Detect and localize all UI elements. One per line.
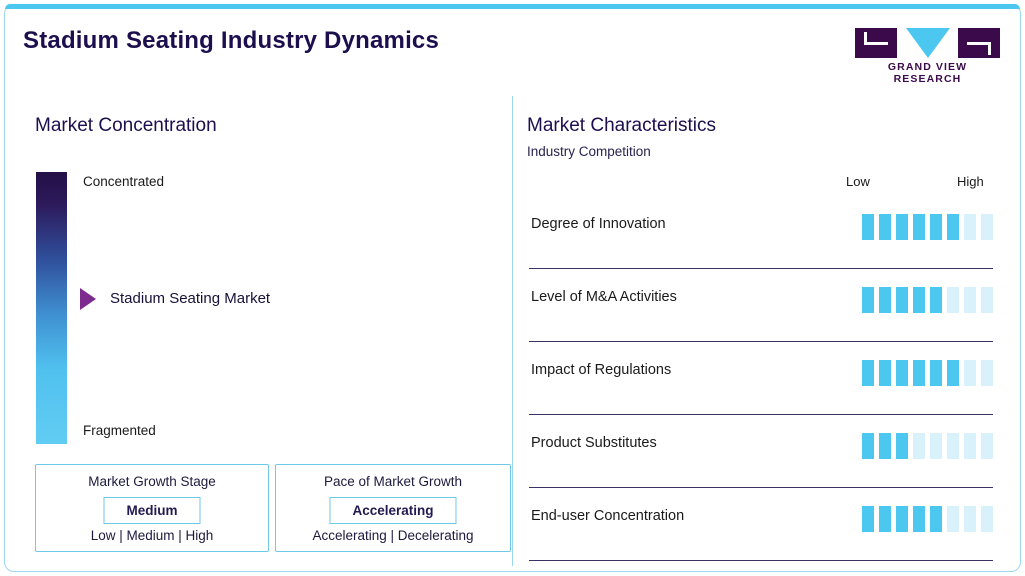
market-characteristics-subtitle: Industry Competition xyxy=(527,144,651,159)
rating-segment-filled xyxy=(879,433,891,459)
axis-label-low: Low xyxy=(846,174,870,189)
scale-label-fragmented: Fragmented xyxy=(83,423,156,438)
rating-segment-filled xyxy=(930,287,942,313)
rating-segment-empty xyxy=(947,287,959,313)
panel-divider xyxy=(512,96,513,566)
characteristic-rating-bars xyxy=(862,433,993,459)
characteristic-label: Impact of Regulations xyxy=(531,362,671,378)
slide-canvas: Stadium Seating Industry Dynamics GRAND … xyxy=(0,0,1025,576)
rating-segment-empty xyxy=(947,506,959,532)
rating-segment-filled xyxy=(896,214,908,240)
rating-segment-filled xyxy=(879,506,891,532)
pace-of-market-growth-title: Pace of Market Growth xyxy=(276,474,510,489)
characteristics-rows: Degree of InnovationLevel of M&A Activit… xyxy=(529,196,993,561)
scale-label-concentrated: Concentrated xyxy=(83,174,164,189)
rating-segment-empty xyxy=(981,506,993,532)
logo-bar-1 xyxy=(864,42,888,45)
axis-label-high: High xyxy=(957,174,984,189)
market-growth-stage-value: Medium xyxy=(103,497,200,524)
rating-segment-filled xyxy=(879,214,891,240)
rating-segment-filled xyxy=(913,214,925,240)
rating-segment-empty xyxy=(964,360,976,386)
rating-segment-filled xyxy=(896,506,908,532)
pace-of-market-growth-value: Accelerating xyxy=(329,497,456,524)
logo-square-right xyxy=(958,28,1000,58)
logo-triangle-icon xyxy=(906,28,950,58)
characteristic-rating-bars xyxy=(862,360,993,386)
characteristic-rating-bars xyxy=(862,506,993,532)
rating-segment-filled xyxy=(896,360,908,386)
characteristic-label: Degree of Innovation xyxy=(531,216,666,232)
characteristic-row: Impact of Regulations xyxy=(529,342,993,415)
rating-segment-filled xyxy=(862,360,874,386)
rating-segment-empty xyxy=(981,214,993,240)
pace-of-market-growth-scale: Accelerating | Decelerating xyxy=(276,528,510,543)
rating-segment-filled xyxy=(896,433,908,459)
logo-square-left xyxy=(855,28,897,58)
rating-segment-filled xyxy=(862,433,874,459)
page-title: Stadium Seating Industry Dynamics xyxy=(23,27,439,55)
rating-segment-empty xyxy=(964,287,976,313)
market-growth-stage-title: Market Growth Stage xyxy=(36,474,268,489)
logo-bar-2 xyxy=(864,32,867,45)
logo-bar-4 xyxy=(988,42,991,55)
rating-segment-filled xyxy=(930,506,942,532)
rating-segment-empty xyxy=(981,360,993,386)
characteristic-label: Level of M&A Activities xyxy=(531,289,677,305)
market-position-label: Stadium Seating Market xyxy=(110,290,270,307)
rating-segment-empty xyxy=(981,433,993,459)
rating-segment-empty xyxy=(981,287,993,313)
market-concentration-heading: Market Concentration xyxy=(35,115,217,137)
market-growth-stage-scale: Low | Medium | High xyxy=(36,528,268,543)
rating-segment-filled xyxy=(862,214,874,240)
rating-segment-filled xyxy=(930,214,942,240)
characteristic-label: End-user Concentration xyxy=(531,508,684,524)
characteristic-row: Degree of Innovation xyxy=(529,196,993,269)
characteristic-row: Level of M&A Activities xyxy=(529,269,993,342)
rating-segment-filled xyxy=(896,287,908,313)
top-accent-bar xyxy=(5,4,1020,9)
brand-logo: GRAND VIEW RESEARCH xyxy=(855,28,1000,76)
rating-segment-filled xyxy=(913,506,925,532)
rating-segment-empty xyxy=(964,433,976,459)
rating-segment-empty xyxy=(947,433,959,459)
market-growth-stage-card: Market Growth Stage Medium Low | Medium … xyxy=(35,464,269,552)
logo-marks xyxy=(855,28,1000,58)
rating-segment-filled xyxy=(879,287,891,313)
rating-segment-filled xyxy=(947,214,959,240)
rating-segment-filled xyxy=(862,506,874,532)
rating-segment-filled xyxy=(879,360,891,386)
characteristic-row: Product Substitutes xyxy=(529,415,993,488)
rating-segment-empty xyxy=(964,506,976,532)
rating-segment-filled xyxy=(913,287,925,313)
rating-segment-filled xyxy=(930,360,942,386)
rating-segment-empty xyxy=(964,214,976,240)
market-characteristics-heading: Market Characteristics xyxy=(527,115,716,137)
rating-segment-empty xyxy=(930,433,942,459)
pace-of-market-growth-card: Pace of Market Growth Accelerating Accel… xyxy=(275,464,511,552)
characteristic-label: Product Substitutes xyxy=(531,435,657,451)
characteristic-rating-bars xyxy=(862,214,993,240)
market-position-pointer-icon xyxy=(80,288,96,310)
rating-segment-filled xyxy=(947,360,959,386)
rating-segment-filled xyxy=(862,287,874,313)
rating-segment-empty xyxy=(913,433,925,459)
rating-segment-filled xyxy=(913,360,925,386)
logo-wordmark: GRAND VIEW RESEARCH xyxy=(855,61,1000,85)
characteristic-row: End-user Concentration xyxy=(529,488,993,561)
concentration-gradient-scale xyxy=(36,172,67,444)
characteristic-rating-bars xyxy=(862,287,993,313)
